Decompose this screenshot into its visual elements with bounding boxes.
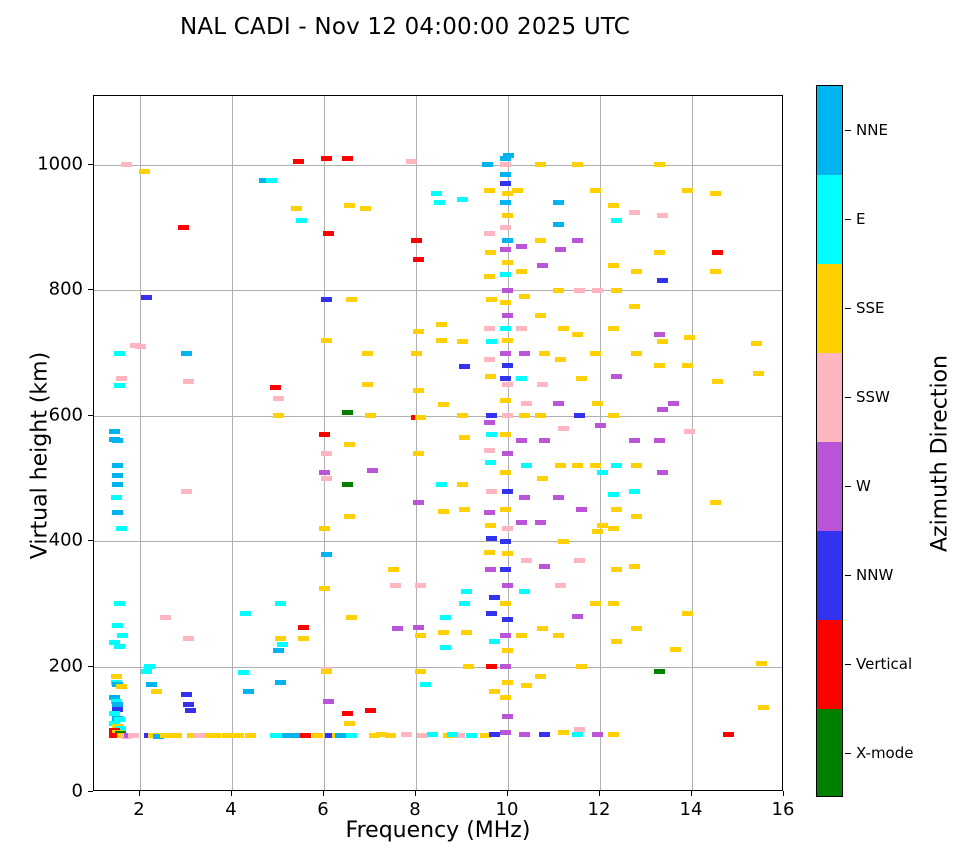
gridline-horizontal (94, 667, 782, 668)
x-tick-label: 10 (496, 799, 519, 820)
colorbar-label-vertical: Vertical (856, 655, 912, 673)
data-mark (502, 583, 513, 588)
data-mark (670, 647, 681, 652)
data-mark (484, 420, 495, 425)
data-mark (539, 732, 550, 737)
data-mark (500, 730, 511, 735)
data-mark (502, 451, 513, 456)
data-mark (459, 435, 470, 440)
data-mark (112, 463, 123, 468)
data-mark (438, 630, 449, 635)
data-mark (181, 351, 192, 356)
data-mark (535, 413, 546, 418)
data-mark (537, 626, 548, 631)
data-mark (413, 451, 424, 456)
data-mark (574, 288, 585, 293)
data-mark (116, 526, 127, 531)
data-mark (502, 238, 513, 243)
data-mark (440, 645, 451, 650)
x-tick-label: 14 (680, 799, 703, 820)
data-mark (484, 274, 495, 279)
y-tick (88, 164, 93, 165)
data-mark (245, 733, 256, 738)
data-mark (484, 231, 495, 236)
y-tick-label: 400 (28, 530, 83, 551)
data-mark (611, 374, 622, 379)
data-mark (500, 247, 511, 252)
data-mark (500, 633, 511, 638)
data-mark (512, 188, 523, 193)
colorbar-tick (845, 130, 851, 132)
data-mark (502, 213, 513, 218)
x-tick-label: 2 (133, 799, 144, 820)
data-mark (273, 413, 284, 418)
data-mark (500, 567, 511, 572)
data-mark (629, 210, 640, 215)
data-mark (275, 636, 286, 641)
data-mark (654, 669, 665, 674)
data-mark (608, 263, 619, 268)
data-mark (502, 648, 513, 653)
data-mark (758, 705, 769, 710)
data-mark (576, 507, 587, 512)
colorbar-label-x-mode: X-mode (856, 744, 913, 762)
gridline-horizontal (94, 541, 782, 542)
data-mark (657, 407, 668, 412)
colorbar-tick (845, 397, 851, 399)
data-mark (537, 476, 548, 481)
data-mark (502, 338, 513, 343)
data-mark (401, 732, 412, 737)
data-mark (553, 200, 564, 205)
data-mark (631, 626, 642, 631)
data-mark (457, 197, 468, 202)
data-mark (291, 206, 302, 211)
data-mark (539, 438, 550, 443)
data-mark (558, 426, 569, 431)
data-mark (631, 514, 642, 519)
data-mark (482, 162, 493, 167)
data-mark (406, 159, 417, 164)
x-tick (599, 791, 600, 796)
data-mark (344, 203, 355, 208)
data-mark (365, 413, 376, 418)
data-mark (629, 489, 640, 494)
gridline-vertical (692, 96, 693, 790)
data-mark (392, 626, 403, 631)
data-mark (183, 702, 194, 707)
data-mark (390, 583, 401, 588)
data-mark (684, 429, 695, 434)
data-mark (144, 664, 155, 669)
data-mark (111, 495, 122, 500)
data-mark (535, 238, 546, 243)
data-mark (185, 708, 196, 713)
data-mark (631, 351, 642, 356)
data-mark (537, 263, 548, 268)
data-mark (112, 473, 123, 478)
colorbar-tick (845, 753, 851, 755)
colorbar-tick (845, 575, 851, 577)
data-mark (516, 438, 527, 443)
y-tick (88, 415, 93, 416)
data-mark (171, 733, 182, 738)
data-mark (282, 733, 293, 738)
data-mark (466, 733, 477, 738)
data-mark (572, 238, 583, 243)
gridline-horizontal (94, 416, 782, 417)
data-mark (367, 468, 378, 473)
data-mark (296, 218, 307, 223)
colorbar-band-x-mode[interactable] (817, 709, 842, 797)
x-tick (231, 791, 232, 796)
data-mark (558, 326, 569, 331)
data-mark (486, 432, 497, 437)
data-mark (590, 463, 601, 468)
data-mark (502, 363, 513, 368)
data-mark (500, 351, 511, 356)
data-mark (519, 351, 530, 356)
data-mark (112, 623, 123, 628)
data-mark (112, 438, 123, 443)
x-tick (507, 791, 508, 796)
data-mark (521, 401, 532, 406)
data-mark (160, 615, 171, 620)
data-mark (500, 172, 511, 177)
data-mark (114, 601, 125, 606)
data-mark (415, 415, 426, 420)
data-mark (321, 156, 332, 161)
data-mark (484, 357, 495, 362)
data-mark (447, 732, 458, 737)
data-mark (521, 558, 532, 563)
ionogram-page: NAL CADI - Nov 12 04:00:00 2025 UTC Freq… (0, 0, 958, 857)
data-mark (608, 326, 619, 331)
data-mark (194, 733, 205, 738)
data-mark (519, 495, 530, 500)
colorbar-band-e[interactable] (817, 175, 842, 264)
data-mark (710, 500, 721, 505)
data-mark (500, 225, 511, 230)
data-mark (486, 413, 497, 418)
data-mark (631, 269, 642, 274)
data-mark (346, 733, 357, 738)
colorbar-label-ssw: SSW (856, 388, 890, 406)
data-mark (654, 162, 665, 167)
data-mark (500, 272, 511, 277)
data-mark (597, 523, 608, 528)
data-mark (486, 611, 497, 616)
data-mark (222, 733, 233, 738)
data-mark (574, 558, 585, 563)
y-tick-label: 0 (28, 781, 83, 802)
data-mark (114, 644, 125, 649)
data-mark (485, 567, 496, 572)
data-mark (574, 413, 585, 418)
data-mark (457, 413, 468, 418)
data-mark (485, 250, 496, 255)
data-mark (319, 470, 330, 475)
gridline-vertical (232, 96, 233, 790)
data-mark (109, 429, 120, 434)
data-mark (270, 385, 281, 390)
data-mark (485, 374, 496, 379)
data-mark (500, 507, 511, 512)
data-mark (486, 339, 497, 344)
data-mark (608, 492, 619, 497)
page-title: NAL CADI - Nov 12 04:00:00 2025 UTC (0, 14, 810, 40)
data-mark (459, 507, 470, 512)
x-tick-label: 12 (588, 799, 611, 820)
data-mark (611, 288, 622, 293)
data-mark (440, 615, 451, 620)
x-tick (139, 791, 140, 796)
data-mark (240, 611, 251, 616)
data-mark (146, 682, 157, 687)
data-mark (710, 191, 721, 196)
data-mark (553, 222, 564, 227)
data-mark (502, 382, 513, 387)
data-mark (411, 238, 422, 243)
data-mark (434, 200, 445, 205)
gridline-vertical (416, 96, 417, 790)
data-mark (500, 398, 511, 403)
plot-area[interactable] (93, 95, 783, 791)
data-mark (438, 402, 449, 407)
data-mark (344, 721, 355, 726)
data-mark (413, 257, 424, 262)
data-mark (611, 463, 622, 468)
data-mark (500, 300, 511, 305)
data-mark (657, 278, 668, 283)
data-mark (484, 448, 495, 453)
data-mark (629, 438, 640, 443)
data-mark (135, 344, 146, 349)
data-mark (597, 470, 608, 475)
data-mark (521, 463, 532, 468)
colorbar-band-w[interactable] (817, 442, 842, 531)
data-mark (436, 338, 447, 343)
data-mark (684, 335, 695, 340)
data-mark (344, 442, 355, 447)
data-mark (486, 297, 497, 302)
x-tick-label: 16 (772, 799, 795, 820)
data-mark (500, 695, 511, 700)
data-mark (500, 376, 511, 381)
data-mark (112, 482, 123, 487)
data-mark (117, 633, 128, 638)
colorbar-label-nnw: NNW (856, 566, 893, 584)
data-mark (631, 463, 642, 468)
colorbar[interactable] (816, 85, 843, 797)
data-mark (535, 520, 546, 525)
data-mark (521, 683, 532, 688)
data-mark (485, 523, 496, 528)
colorbar-band-nnw[interactable] (817, 531, 842, 620)
data-mark (484, 550, 495, 555)
data-mark (344, 514, 355, 519)
data-mark (654, 363, 665, 368)
data-mark (756, 661, 767, 666)
data-mark (489, 732, 500, 737)
data-mark (321, 297, 332, 302)
data-mark (516, 269, 527, 274)
data-mark (411, 351, 422, 356)
data-mark (712, 379, 723, 384)
data-mark (502, 551, 513, 556)
data-mark (210, 733, 221, 738)
x-axis-label: Frequency (MHz) (93, 818, 783, 843)
data-mark (413, 500, 424, 505)
data-mark (413, 625, 424, 630)
data-mark (151, 689, 162, 694)
data-mark (457, 339, 468, 344)
data-mark (321, 451, 332, 456)
data-mark (121, 162, 132, 167)
data-mark (502, 260, 513, 265)
data-mark (608, 413, 619, 418)
data-mark (427, 732, 438, 737)
data-mark (611, 567, 622, 572)
data-mark (516, 244, 527, 249)
data-mark (553, 633, 564, 638)
data-mark (535, 674, 546, 679)
data-mark (376, 732, 387, 737)
data-mark (502, 617, 513, 622)
data-mark (608, 203, 619, 208)
data-mark (592, 529, 603, 534)
data-mark (484, 510, 495, 515)
data-mark (555, 583, 566, 588)
data-mark (608, 732, 619, 737)
data-mark (654, 250, 665, 255)
y-tick-label: 1000 (28, 153, 83, 174)
data-mark (346, 615, 357, 620)
data-mark (592, 288, 603, 293)
data-mark (500, 470, 511, 475)
data-mark (558, 539, 569, 544)
data-mark (362, 382, 373, 387)
data-mark (710, 269, 721, 274)
data-mark (572, 463, 583, 468)
data-mark (484, 188, 495, 193)
y-tick (88, 791, 93, 792)
data-mark (500, 326, 511, 331)
colorbar-label-e: E (856, 210, 865, 228)
gridline-vertical (600, 96, 601, 790)
colorbar-band-vertical[interactable] (817, 620, 842, 709)
data-mark (139, 169, 150, 174)
data-mark (233, 733, 244, 738)
colorbar-tick (845, 486, 851, 488)
data-mark (682, 611, 693, 616)
data-mark (629, 304, 640, 309)
data-mark (160, 733, 171, 738)
data-mark (436, 482, 447, 487)
data-mark (342, 482, 353, 487)
data-mark (463, 664, 474, 669)
x-tick (783, 791, 784, 796)
data-mark (178, 225, 189, 230)
data-mark (572, 332, 583, 337)
data-mark (555, 357, 566, 362)
data-mark (611, 218, 622, 223)
data-mark (275, 680, 286, 685)
x-tick (323, 791, 324, 796)
data-mark (489, 639, 500, 644)
gridline-vertical (324, 96, 325, 790)
data-mark (489, 689, 500, 694)
data-mark (461, 630, 472, 635)
data-mark (608, 526, 619, 531)
data-mark (537, 382, 548, 387)
data-mark (590, 351, 601, 356)
data-mark (365, 708, 376, 713)
data-mark (321, 338, 332, 343)
data-mark (654, 438, 665, 443)
data-mark (502, 526, 513, 531)
data-mark (502, 680, 513, 685)
data-mark (319, 526, 330, 531)
data-mark (181, 489, 192, 494)
data-mark (128, 733, 139, 738)
data-mark (558, 730, 569, 735)
x-tick (415, 791, 416, 796)
colorbar-label-sse: SSE (856, 299, 885, 317)
data-mark (266, 178, 277, 183)
data-mark (629, 564, 640, 569)
data-mark (457, 482, 468, 487)
data-mark (273, 648, 284, 653)
data-mark (500, 601, 511, 606)
colorbar-tick (845, 219, 851, 221)
data-mark (712, 250, 723, 255)
data-mark (500, 664, 511, 669)
y-axis-label: Virtual height (km) (28, 291, 53, 621)
colorbar-band-nne[interactable] (817, 86, 842, 175)
y-tick-label: 200 (28, 655, 83, 676)
data-mark (273, 396, 284, 401)
data-mark (539, 564, 550, 569)
colorbar-label: Azimuth Direction (928, 304, 953, 604)
data-mark (682, 188, 693, 193)
data-mark (459, 601, 470, 606)
data-mark (553, 495, 564, 500)
colorbar-band-sse[interactable] (817, 264, 842, 353)
data-mark (431, 191, 442, 196)
data-mark (342, 156, 353, 161)
data-mark (500, 162, 511, 167)
data-mark (312, 733, 323, 738)
data-mark (489, 595, 500, 600)
data-mark (592, 401, 603, 406)
data-mark (114, 383, 125, 388)
colorbar-band-ssw[interactable] (817, 353, 842, 442)
data-mark (500, 181, 511, 186)
data-mark (611, 507, 622, 512)
data-mark (112, 510, 123, 515)
data-mark (116, 376, 127, 381)
data-mark (657, 470, 668, 475)
data-mark (486, 536, 497, 541)
data-mark (751, 341, 762, 346)
data-mark (413, 388, 424, 393)
data-mark (668, 401, 679, 406)
data-mark (141, 669, 152, 674)
data-mark (590, 601, 601, 606)
data-mark (114, 351, 125, 356)
data-mark (346, 297, 357, 302)
